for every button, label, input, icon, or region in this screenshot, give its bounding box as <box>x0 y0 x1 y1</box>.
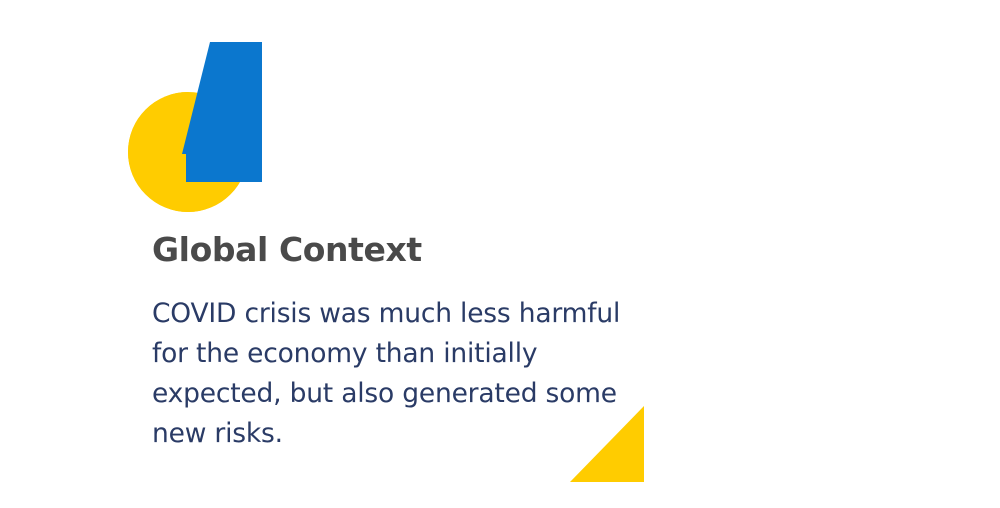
body-line-3: expected, but also generated some <box>152 374 622 414</box>
body-paragraph: COVID crisis was much less harmful for t… <box>152 294 622 454</box>
yellow-triangle-decoration <box>570 406 644 482</box>
page-title: Global Context <box>152 230 422 270</box>
slide-canvas: Global Context COVID crisis was much les… <box>0 0 1000 508</box>
triangle-icon <box>570 406 644 482</box>
c1-logo <box>124 36 274 222</box>
body-line-2: for the economy than initially <box>152 334 622 374</box>
body-line-1: COVID crisis was much less harmful <box>152 294 622 334</box>
body-line-4: new risks. <box>152 414 622 454</box>
